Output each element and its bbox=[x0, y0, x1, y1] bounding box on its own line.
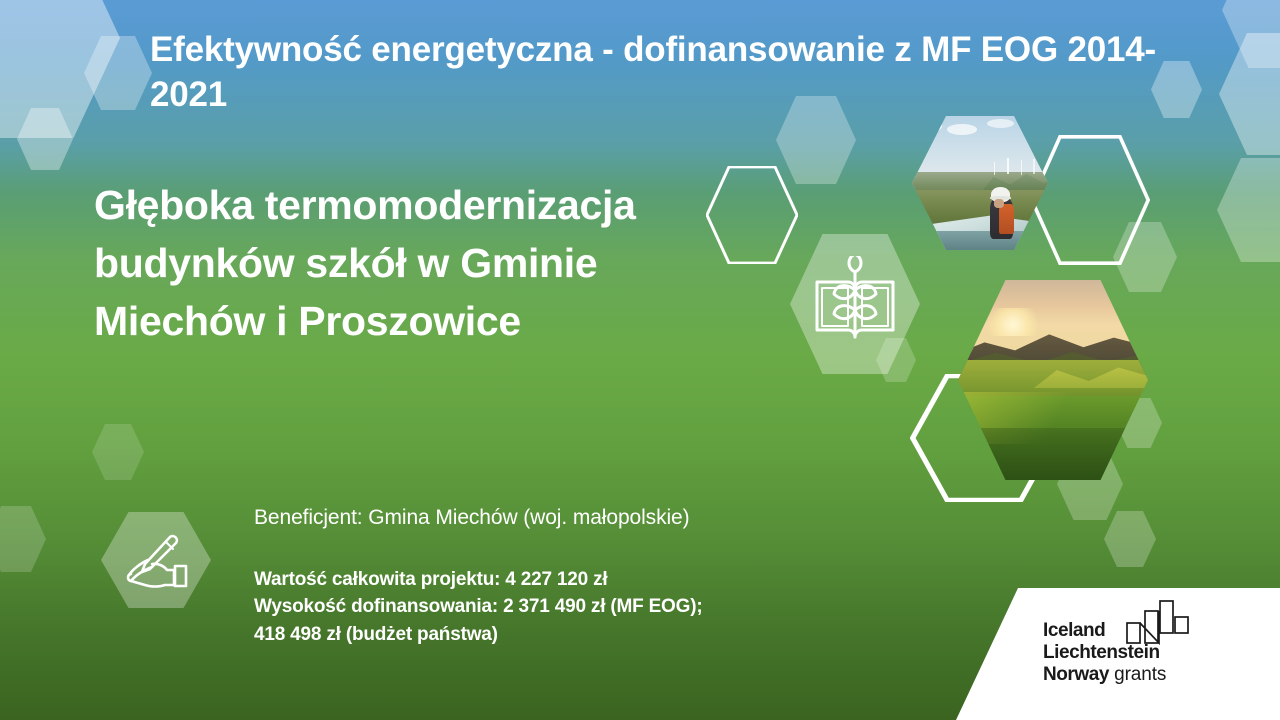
decorative-hexagon bbox=[92, 424, 144, 480]
logo-line-iceland: Iceland bbox=[1043, 620, 1166, 642]
open-book-plant-icon bbox=[812, 256, 898, 352]
logo-norway-text: Norway bbox=[1043, 664, 1109, 685]
logo-line-norway-grants: Norway grants bbox=[1043, 664, 1166, 686]
decorative-hexagon bbox=[1219, 33, 1280, 155]
hand-writing-pen-icon bbox=[122, 534, 192, 588]
outline-hexagon bbox=[1030, 135, 1150, 265]
beneficiary-label: Beneficjent: Gmina Miechów (woj. małopol… bbox=[254, 506, 690, 530]
decorative-hexagon bbox=[1104, 511, 1156, 567]
funding-details: Wartość całkowita projektu: 4 227 120 zł… bbox=[254, 566, 894, 648]
presentation-slide: Efektywność energetyczna - dofinansowani… bbox=[0, 0, 1280, 720]
logo-line-liechtenstein: Liechtenstein bbox=[1043, 642, 1166, 664]
logo-grants-text: grants bbox=[1109, 664, 1166, 685]
wind-turbine-worker-photo bbox=[912, 116, 1048, 250]
project-headline: Głęboka termomodernizacja budynków szkół… bbox=[94, 176, 754, 351]
page-title: Efektywność energetyczna - dofinansowani… bbox=[150, 28, 1160, 118]
decorative-hexagon bbox=[1217, 158, 1280, 262]
grant-value-line: Wysokość dofinansowania: 2 371 490 zł (M… bbox=[254, 593, 894, 620]
education-icon-hexagon bbox=[790, 234, 920, 374]
grants-logo-text: Iceland Liechtenstein Norway grants bbox=[1043, 620, 1166, 686]
signature-icon-hexagon bbox=[101, 512, 211, 608]
decorative-hexagon bbox=[0, 506, 46, 572]
total-value-line: Wartość całkowita projektu: 4 227 120 zł bbox=[254, 566, 894, 593]
state-budget-line: 418 498 zł (budżet państwa) bbox=[254, 621, 894, 648]
